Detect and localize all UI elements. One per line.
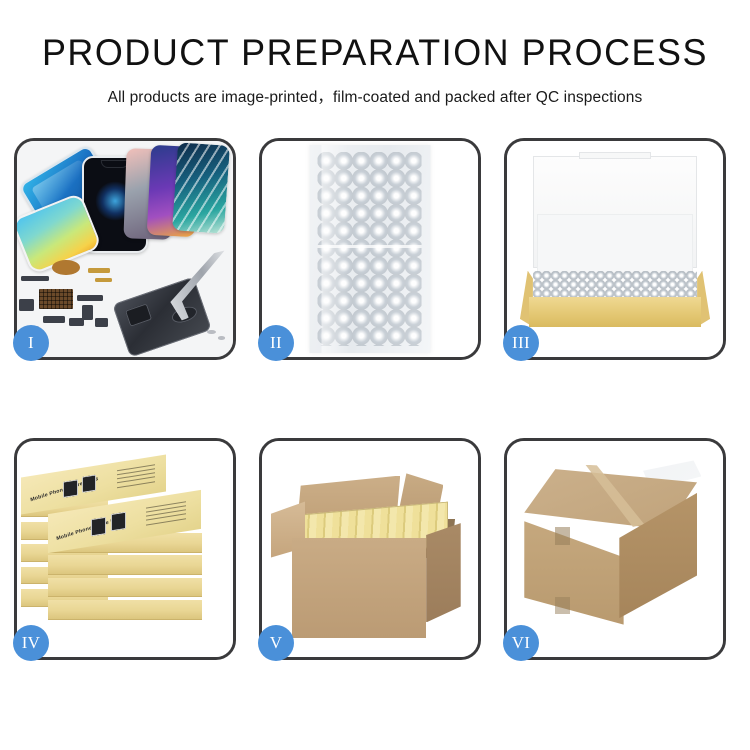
phone-back-housing-icon (112, 276, 212, 357)
process-step-1: I (14, 138, 236, 360)
teal-wave-phone-icon (172, 142, 230, 233)
step-3-badge: III (503, 325, 539, 361)
process-step-6: VI (504, 438, 726, 660)
box-inner-foam-icon (537, 214, 693, 274)
screw-part-icon (207, 330, 216, 334)
carton-front-face-icon (292, 538, 426, 637)
process-step-4: Mobile Phone Spare Parts Mobile Phone Sp… (14, 438, 236, 660)
copper-coil-part-icon (52, 260, 80, 276)
carton-seam-mark-icon (555, 527, 570, 544)
speaker-part-icon (43, 316, 65, 323)
bubble-wrap-seam (318, 245, 422, 248)
spare-parts-group (17, 253, 233, 357)
stacked-box (48, 600, 201, 619)
sealed-carton-front-icon (524, 512, 623, 624)
box-phone-thumbnail (91, 517, 106, 536)
step-2-illustration (262, 141, 478, 357)
carton-side-face-icon (426, 523, 461, 622)
gold-contact-part-icon (95, 278, 112, 282)
header: PRODUCT PREPARATION PROCESS All products… (0, 0, 750, 107)
logic-chip-part-icon (39, 289, 74, 310)
step-1-badge: I (13, 325, 49, 361)
process-step-2: II (259, 138, 481, 360)
carton-seam-mark-icon (555, 597, 570, 614)
step-5-illustration (262, 441, 478, 657)
connector-strip-part-icon (21, 276, 49, 281)
step-4-illustration: Mobile Phone Spare Parts Mobile Phone Sp… (17, 441, 233, 657)
screw-small-part-icon (218, 336, 226, 340)
bubble-wrap-highlight (322, 145, 349, 352)
box-phone-thumbnail (63, 480, 78, 499)
step-1-illustration (17, 141, 233, 357)
phone-lineup-group (17, 141, 233, 266)
step-5-badge: V (258, 625, 294, 661)
gold-flex-part-icon (88, 268, 110, 273)
stacked-box (48, 578, 201, 597)
page-title: PRODUCT PREPARATION PROCESS (11, 0, 739, 73)
stacked-box (48, 555, 201, 574)
page-subtitle: All products are image-printed，film-coat… (0, 73, 750, 107)
step-4-badge: IV (13, 625, 49, 661)
box-phone-thumbnail (111, 511, 126, 530)
step-3-illustration (507, 141, 723, 357)
vibrator-part-icon (95, 318, 108, 327)
step-6-illustration (507, 441, 723, 657)
step-2-badge: II (258, 325, 294, 361)
camera-module-part-icon (69, 318, 84, 326)
step-6-badge: VI (503, 625, 539, 661)
product-preparation-infographic: PRODUCT PREPARATION PROCESS All products… (0, 0, 750, 750)
flex-cable-part-icon (77, 295, 103, 301)
bubble-wrap-pouch-icon (310, 145, 431, 352)
box-stack-group: Mobile Phone Spare Parts Mobile Phone Sp… (21, 463, 228, 649)
process-step-5: V (259, 438, 481, 660)
bracket-part-icon (19, 299, 34, 311)
box-phone-thumbnail (82, 475, 97, 494)
kraft-box-front-icon (529, 297, 702, 327)
process-step-grid: I II III (14, 138, 736, 660)
process-step-3: III (504, 138, 726, 360)
packed-bubble-items-icon (533, 271, 697, 299)
